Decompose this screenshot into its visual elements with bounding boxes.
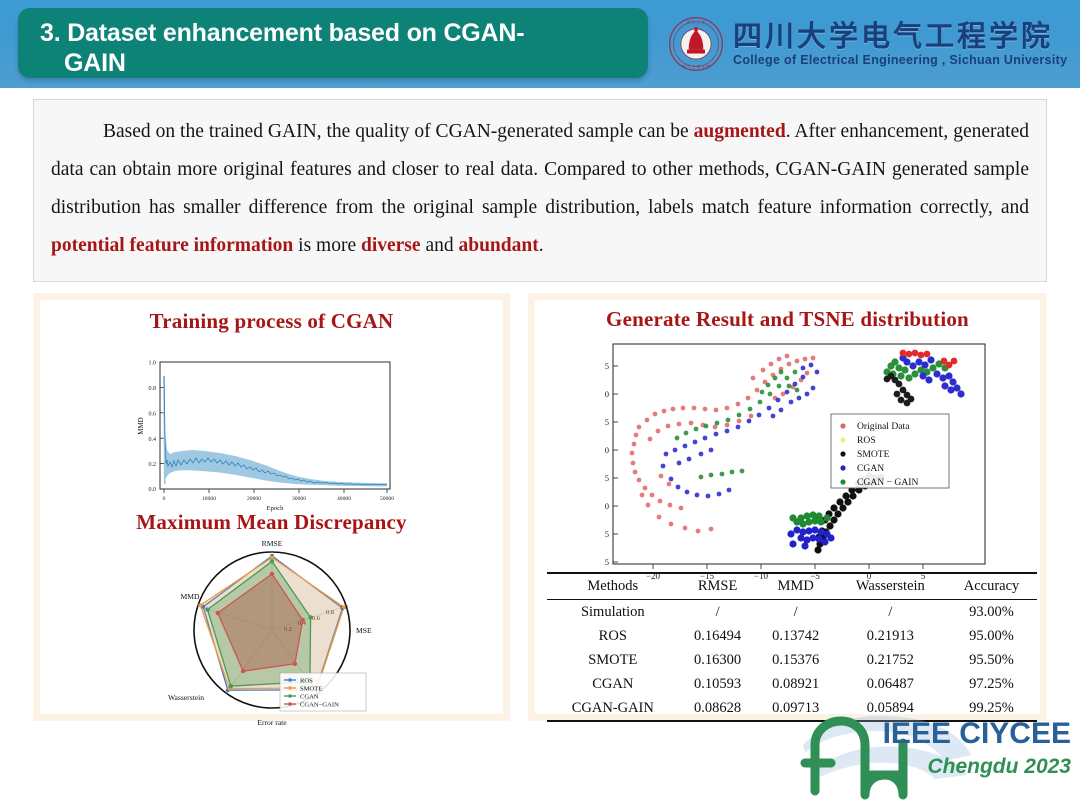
col-methods: Methods — [547, 573, 679, 600]
results-table: Methods RMSE MMD Wasserstein Accuracy Si… — [547, 572, 1037, 722]
col-wasserstein: Wasserstein — [835, 573, 946, 600]
university-name-cn: 四川大学电气工程学院 — [733, 21, 1067, 53]
svg-text:ROS: ROS — [300, 677, 313, 684]
svg-text:0.4: 0.4 — [149, 437, 157, 443]
cell-wasserstein: 0.06487 — [835, 672, 946, 696]
university-name-en: College of Electrical Engineering , Sich… — [733, 53, 1067, 68]
ieee-sub-label: Chengdu 2023 — [927, 755, 1071, 778]
desc-seg-3: is more — [293, 235, 361, 256]
cell-accuracy: 95.50% — [946, 648, 1037, 672]
svg-text:20000: 20000 — [247, 496, 261, 502]
conference-logo: IEEE CIYCEE Chengdu 2023 — [795, 703, 1080, 803]
left-panel: Training process of CGAN 1.0 0.8 0.6 0.4… — [33, 293, 510, 721]
svg-text:5: 5 — [605, 361, 609, 371]
svg-text:50000: 50000 — [380, 496, 394, 502]
table-row: SMOTE 0.16300 0.15376 0.21752 95.50% — [547, 648, 1037, 672]
cell-wasserstein: 0.21752 — [835, 648, 946, 672]
svg-text:0.2: 0.2 — [284, 626, 292, 633]
university-seal-icon: 四 川 大 学 电 气 工 程 学 院 — [668, 16, 724, 72]
col-accuracy: Accuracy — [946, 573, 1037, 600]
cell-mmd: / — [757, 600, 835, 625]
table-header-row: Methods RMSE MMD Wasserstein Accuracy — [547, 573, 1037, 600]
radar-chart: 0.2 0.4 0.6 0.8 1.0 RMSE MSE Error rate … — [40, 535, 503, 731]
cell-mmd: 0.13742 — [757, 624, 835, 648]
cell-rmse: / — [679, 600, 757, 625]
ieee-main-label: IEEE CIYCEE — [883, 717, 1071, 750]
svg-text:0: 0 — [605, 445, 609, 455]
svg-text:1.0: 1.0 — [340, 604, 348, 611]
table-row: CGAN 0.10593 0.08921 0.06487 97.25% — [547, 672, 1037, 696]
university-name-block: 四川大学电气工程学院 College of Electrical Enginee… — [733, 21, 1067, 68]
svg-text:0.2: 0.2 — [149, 462, 157, 468]
svg-text:SMOTE: SMOTE — [300, 685, 322, 692]
svg-text:四 川 大 学: 四 川 大 学 — [687, 20, 706, 25]
svg-text:0.6: 0.6 — [312, 615, 320, 622]
page-title-line2: GAIN — [40, 48, 630, 78]
svg-text:10000: 10000 — [202, 496, 216, 502]
svg-text:Original Data: Original Data — [857, 421, 910, 432]
radar-axis-mse: MSE — [356, 626, 372, 635]
svg-text:1.0: 1.0 — [149, 361, 157, 367]
cell-accuracy: 97.25% — [946, 672, 1037, 696]
col-rmse: RMSE — [679, 573, 757, 600]
cell-method: SMOTE — [547, 648, 679, 672]
svg-text:40000: 40000 — [337, 496, 351, 502]
slide-header: 3. Dataset enhancement based on CGAN- GA… — [0, 0, 1080, 88]
cell-wasserstein: 0.21913 — [835, 624, 946, 648]
mmd-line-chart: 1.0 0.8 0.6 0.4 0.2 0.0 — [40, 334, 503, 514]
slide-title-box: 3. Dataset enhancement based on CGAN- GA… — [18, 8, 648, 78]
cell-rmse: 0.08628 — [679, 696, 757, 721]
page-title: 3. Dataset enhancement based on CGAN- GA… — [40, 18, 630, 78]
right-panel-title: Generate Result and TSNE distribution — [535, 307, 1040, 332]
desc-seg-4: and — [421, 235, 459, 256]
cell-wasserstein: / — [835, 600, 946, 625]
cell-mmd: 0.15376 — [757, 648, 835, 672]
mmd-chart-svg: 1.0 0.8 0.6 0.4 0.2 0.0 — [40, 334, 503, 514]
svg-text:5: 5 — [605, 557, 609, 567]
highlight-diverse: diverse — [361, 235, 421, 256]
svg-text:30000: 30000 — [292, 496, 306, 502]
table-row: Simulation / / / 93.00% — [547, 600, 1037, 625]
svg-text:0: 0 — [605, 389, 609, 399]
svg-text:0: 0 — [605, 501, 609, 511]
description-text: Based on the trained GAIN, the quality o… — [34, 100, 1046, 265]
cell-method: CGAN-GAIN — [547, 696, 679, 721]
svg-text:ROS: ROS — [857, 435, 876, 446]
page-title-line1: 3. Dataset enhancement based on CGAN- — [40, 19, 524, 47]
svg-text:5: 5 — [605, 473, 609, 483]
cell-rmse: 0.16300 — [679, 648, 757, 672]
radar-axis-rmse: RMSE — [262, 539, 283, 548]
svg-text:CGAN: CGAN — [857, 463, 884, 474]
radar-chart-svg: 0.2 0.4 0.6 0.8 1.0 RMSE MSE Error rate … — [40, 535, 503, 731]
right-panel: Generate Result and TSNE distribution 5 … — [528, 293, 1047, 721]
radar-axis-error-rate: Error rate — [257, 718, 287, 727]
radar-legend: ROS SMOTE CGAN CGAN−GAIN — [280, 673, 366, 711]
svg-text:SMOTE: SMOTE — [857, 449, 890, 460]
description-box: Based on the trained GAIN, the quality o… — [33, 99, 1047, 282]
cell-rmse: 0.16494 — [679, 624, 757, 648]
svg-text:0.8: 0.8 — [149, 386, 157, 392]
cell-accuracy: 95.00% — [946, 624, 1037, 648]
desc-seg-5: . — [539, 235, 544, 256]
mmd-xlabel: Epoch — [267, 505, 285, 512]
cell-method: Simulation — [547, 600, 679, 625]
tsne-scatter-chart: 5 0 5 0 5 0 5 5 −20 −15 −10 — [535, 332, 1040, 594]
tsne-chart-svg: 5 0 5 0 5 0 5 5 −20 −15 −10 — [535, 332, 1040, 594]
highlight-potential-feature-information: potential feature information — [51, 235, 293, 256]
desc-seg-1: Based on the trained GAIN, the quality o… — [103, 121, 694, 142]
table-row: ROS 0.16494 0.13742 0.21913 95.00% — [547, 624, 1037, 648]
radar-axis-wasserstein: Wasserstein — [168, 693, 204, 702]
ieee-ciycee-waveform-logo: IEEE CIYCEE Chengdu 2023 — [795, 703, 1080, 803]
left-panel-title: Training process of CGAN — [40, 309, 503, 334]
cell-mmd: 0.08921 — [757, 672, 835, 696]
svg-text:CGAN: CGAN — [300, 693, 319, 700]
cell-method: CGAN — [547, 672, 679, 696]
svg-text:5: 5 — [605, 529, 609, 539]
svg-text:CGAN−GAIN: CGAN−GAIN — [300, 701, 339, 708]
highlight-augmented: augmented — [694, 121, 786, 142]
cell-rmse: 0.10593 — [679, 672, 757, 696]
tsne-legend: Original Data ROS SMOTE CGAN CGAN − GAIN — [831, 414, 949, 488]
radar-axis-mmd: MMD — [181, 592, 201, 601]
svg-text:0.0: 0.0 — [149, 487, 157, 493]
svg-text:0.4: 0.4 — [298, 620, 307, 627]
cell-accuracy: 93.00% — [946, 600, 1037, 625]
mmd-ylabel: MMD — [137, 417, 145, 435]
svg-text:0: 0 — [163, 496, 166, 502]
university-branding: 四 川 大 学 电 气 工 程 学 院 四川大学电气工程学院 College o… — [668, 8, 1068, 80]
svg-text:5: 5 — [605, 417, 609, 427]
svg-text:CGAN − GAIN: CGAN − GAIN — [857, 477, 918, 488]
svg-text:电 气 工 程 学 院: 电 气 工 程 学 院 — [682, 64, 710, 69]
cell-method: ROS — [547, 624, 679, 648]
highlight-abundant: abundant — [458, 235, 538, 256]
svg-text:0.6: 0.6 — [149, 411, 157, 417]
col-mmd: MMD — [757, 573, 835, 600]
svg-text:0.8: 0.8 — [326, 609, 334, 616]
